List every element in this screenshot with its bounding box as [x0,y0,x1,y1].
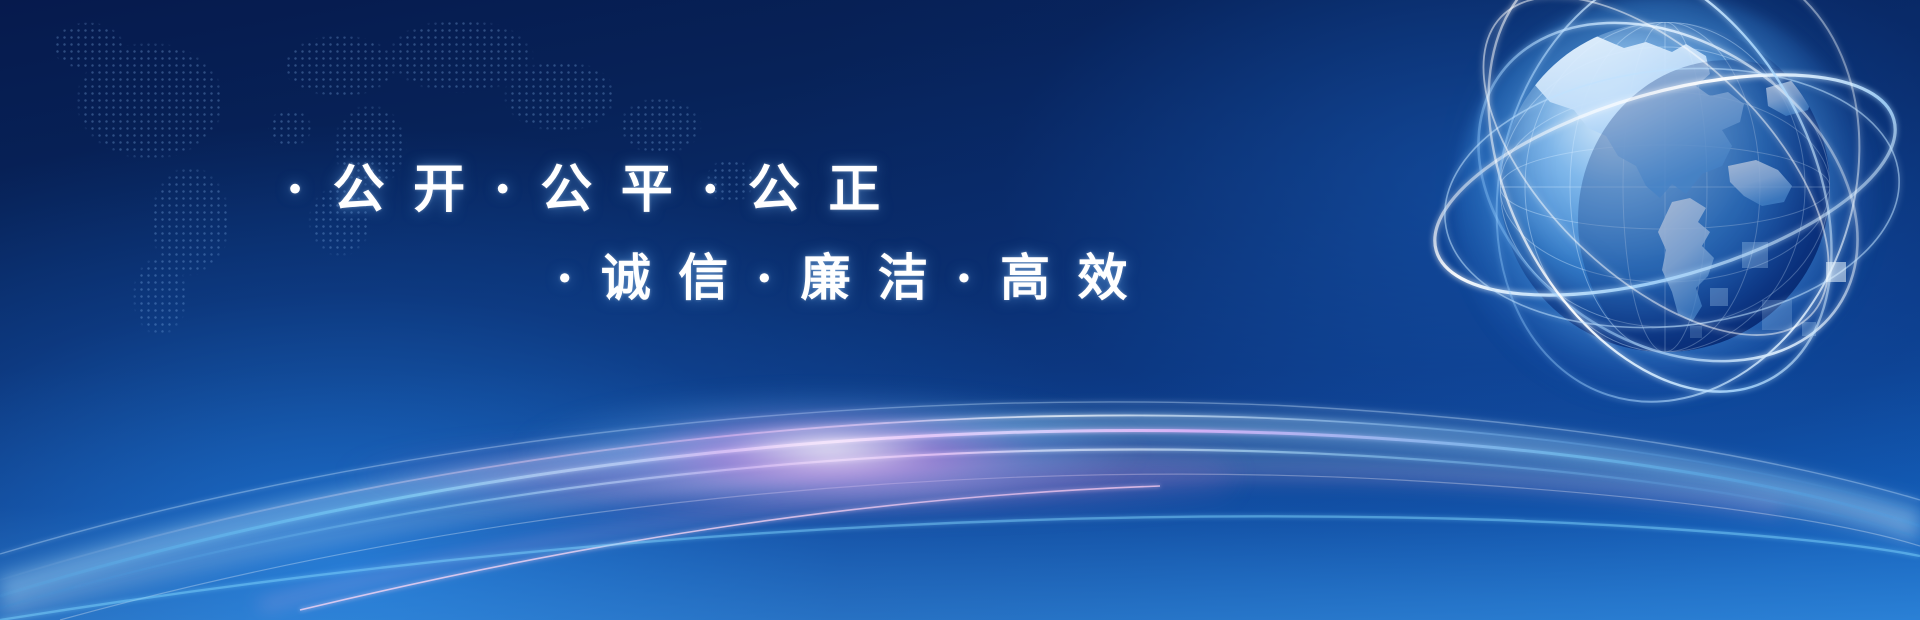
globe-icon [1410,0,1920,440]
globe-graphic [1410,0,1920,440]
wave-core-glow [520,390,1140,510]
slogan-line-1: · 公 开 · 公 平 · 公 正 [286,147,886,222]
banner-hero: · 公 开 · 公 平 · 公 正 · 诚 信 · 廉 洁 · 高 效 [0,0,1920,620]
slogan-line-2: · 诚 信 · 廉 洁 · 高 效 [556,238,1132,310]
